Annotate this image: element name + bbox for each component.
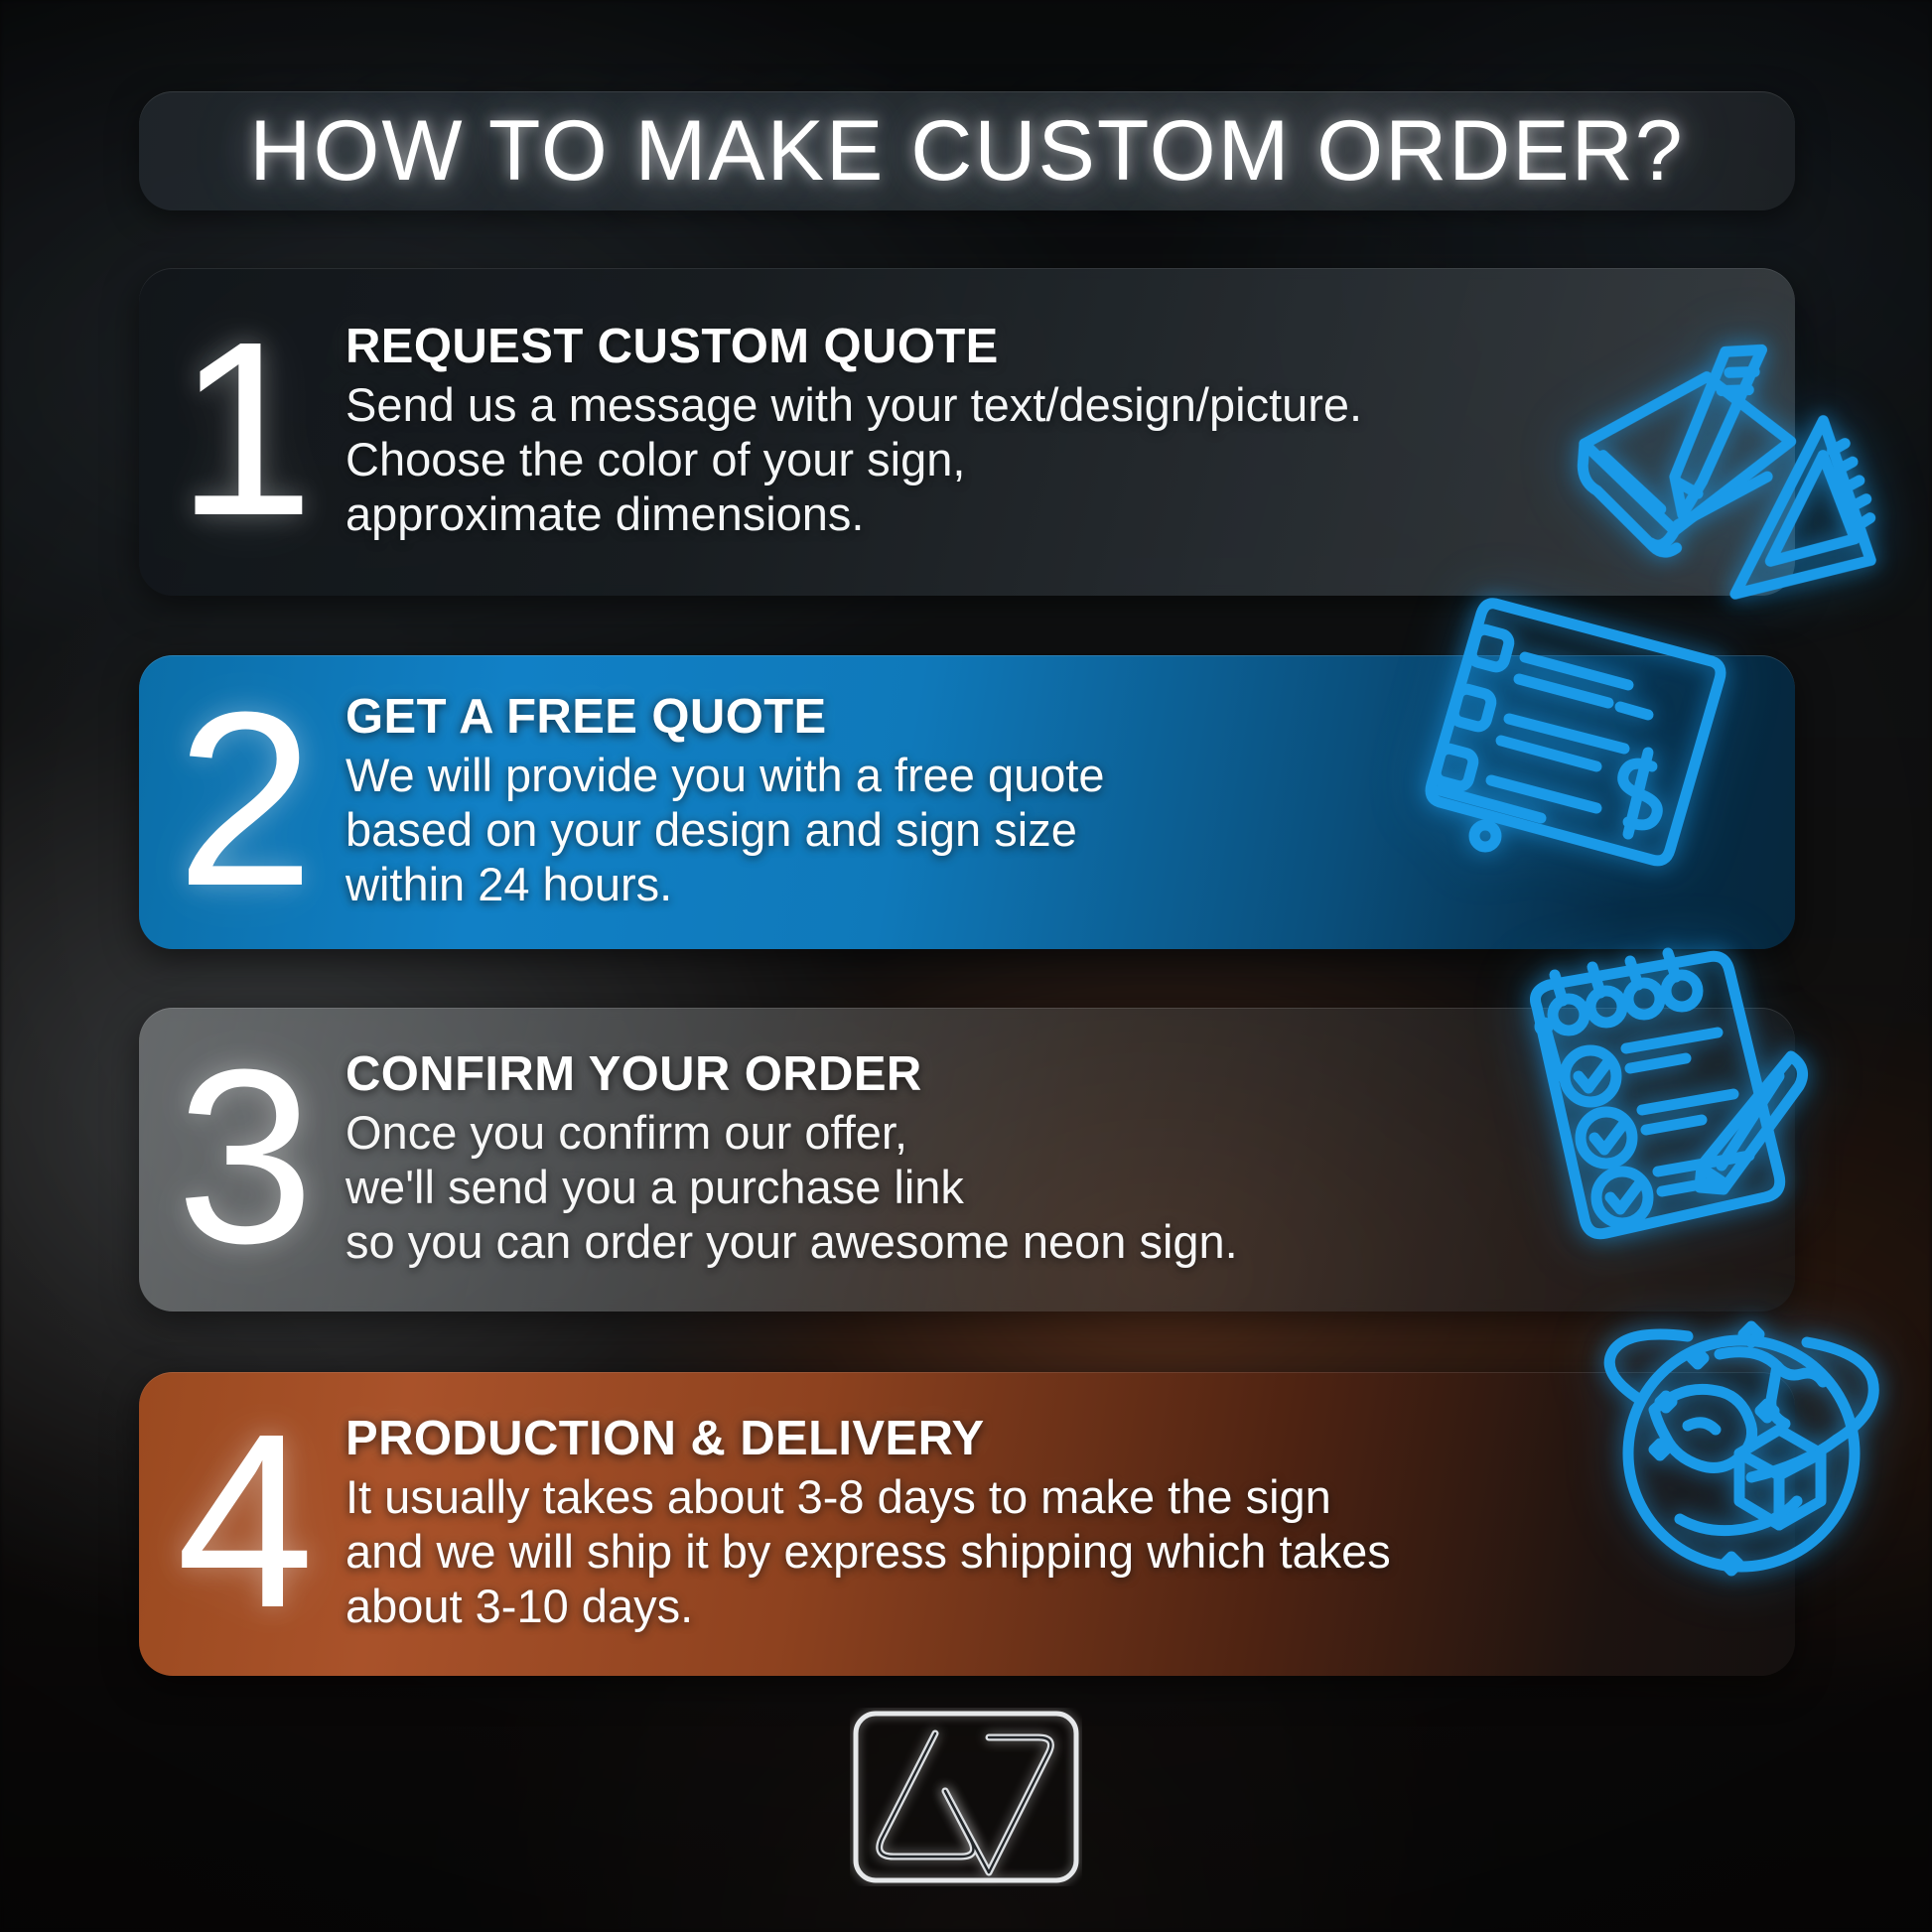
step-lines-1: Send us a message with your text/design/… — [345, 378, 1773, 542]
step-number-2: 2 — [139, 697, 345, 900]
step-number-3: 3 — [139, 1054, 345, 1258]
step-heading-4: PRODUCTION & DELIVERY — [345, 1414, 1773, 1465]
step-body-4: PRODUCTION & DELIVERY It usually takes a… — [345, 1414, 1795, 1635]
step-line: about 3-10 days. — [345, 1580, 1773, 1634]
infographic-page: HOW TO MAKE CUSTOM ORDER? 1 REQUEST CUST… — [0, 0, 1932, 1932]
step-lines-3: Once you confirm our offer, we'll send y… — [345, 1106, 1773, 1270]
step-line: approximate dimensions. — [345, 487, 1773, 542]
step-body-1: REQUEST CUSTOM QUOTE Send us a message w… — [345, 322, 1795, 543]
page-title: HOW TO MAKE CUSTOM ORDER? — [249, 108, 1684, 194]
step-line: We will provide you with a free quote — [345, 749, 1773, 803]
step-line: so you can order your awesome neon sign. — [345, 1215, 1773, 1270]
step-heading-3: CONFIRM YOUR ORDER — [345, 1049, 1773, 1101]
step-line: and we will ship it by express shipping … — [345, 1525, 1773, 1580]
step-line: within 24 hours. — [345, 858, 1773, 912]
step-line: It usually takes about 3-8 days to make … — [345, 1470, 1773, 1525]
step-line: we'll send you a purchase link — [345, 1161, 1773, 1215]
step-line: Once you confirm our offer, — [345, 1106, 1773, 1161]
step-line: based on your design and sign size — [345, 803, 1773, 858]
step-card-1: 1 REQUEST CUSTOM QUOTE Send us a message… — [139, 268, 1795, 596]
step-body-2: GET A FREE QUOTE We will provide you wit… — [345, 692, 1795, 913]
step-line: Send us a message with your text/design/… — [345, 378, 1773, 433]
step-number-4: 4 — [139, 1419, 345, 1622]
step-card-3: 3 CONFIRM YOUR ORDER Once you confirm ou… — [139, 1008, 1795, 1311]
step-lines-4: It usually takes about 3-8 days to make … — [345, 1470, 1773, 1634]
step-card-2: 2 GET A FREE QUOTE We will provide you w… — [139, 655, 1795, 949]
step-number-1: 1 — [139, 327, 345, 530]
brand-logo — [850, 1708, 1082, 1886]
step-card-4: 4 PRODUCTION & DELIVERY It usually takes… — [139, 1372, 1795, 1676]
title-bar: HOW TO MAKE CUSTOM ORDER? — [139, 91, 1795, 210]
step-body-3: CONFIRM YOUR ORDER Once you confirm our … — [345, 1049, 1795, 1271]
step-lines-2: We will provide you with a free quote ba… — [345, 749, 1773, 912]
step-line: Choose the color of your sign, — [345, 433, 1773, 487]
step-heading-2: GET A FREE QUOTE — [345, 692, 1773, 744]
step-heading-1: REQUEST CUSTOM QUOTE — [345, 322, 1773, 373]
